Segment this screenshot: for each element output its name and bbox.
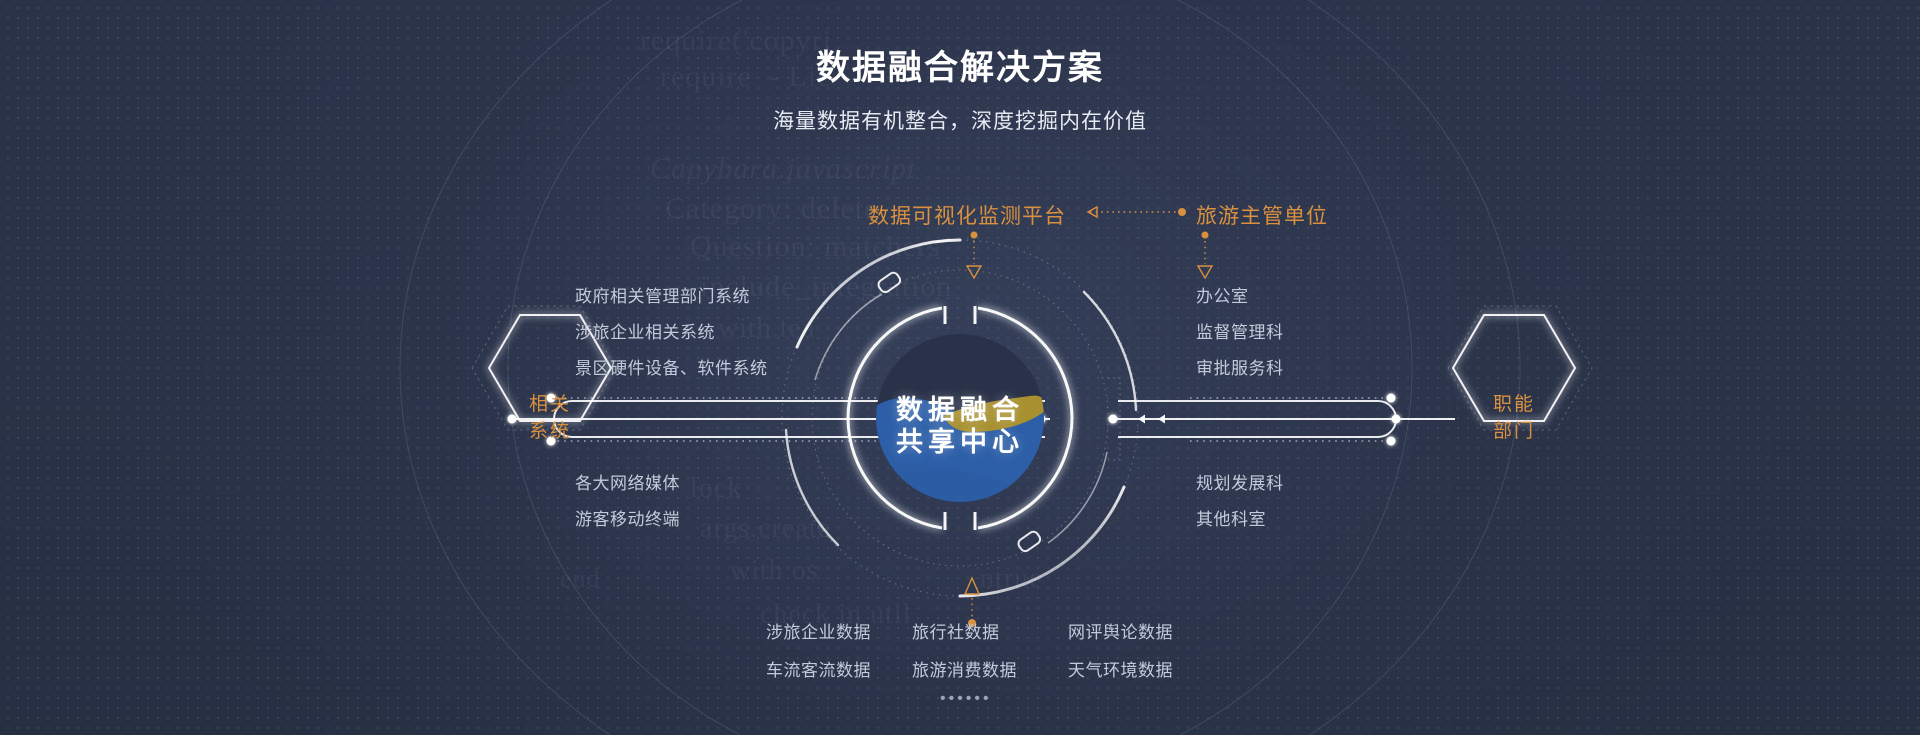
left-source-item: 各大网络媒体	[575, 469, 680, 494]
bottom-data-item: 车流客流数据	[766, 656, 871, 681]
bottom-data-more: ••••••	[940, 690, 992, 708]
top-node-visualization-platform[interactable]: 数据可视化监测平台	[868, 200, 1066, 230]
left-node-label-line2: 系统	[520, 418, 580, 445]
right-node-label-line1: 职能	[1484, 391, 1544, 418]
page-subtitle: 海量数据有机整合，深度挖掘内在价值	[0, 105, 1920, 135]
bottom-data-item: 旅游消费数据	[912, 656, 1017, 681]
left-node-label-line1: 相关	[520, 391, 580, 418]
bottom-data-item: 网评舆论数据	[1068, 618, 1173, 643]
right-department-item: 办公室	[1196, 282, 1249, 307]
right-department-item: 监督管理科	[1196, 318, 1284, 343]
right-department-item: 其他科室	[1196, 505, 1266, 530]
center-label-line2: 共享中心	[860, 420, 1060, 459]
right-connector-bus	[1109, 394, 1691, 446]
left-source-item: 政府相关管理部门系统	[575, 282, 750, 307]
left-source-item: 涉旅企业相关系统	[575, 318, 715, 343]
left-source-item: 景区硬件设备、软件系统	[575, 354, 768, 379]
page-title: 数据融合解决方案	[0, 40, 1920, 89]
bottom-data-item: 涉旅企业数据	[766, 618, 871, 643]
right-department-item: 审批服务科	[1196, 354, 1284, 379]
right-node-label-line2: 部门	[1484, 418, 1544, 445]
left-source-item: 游客移动终端	[575, 505, 680, 530]
top-node-tourism-authority[interactable]: 旅游主管单位	[1196, 200, 1328, 230]
bottom-data-item: 旅行社数据	[912, 618, 1000, 643]
right-department-item: 规划发展科	[1196, 469, 1284, 494]
bottom-data-item: 天气环境数据	[1068, 656, 1173, 681]
